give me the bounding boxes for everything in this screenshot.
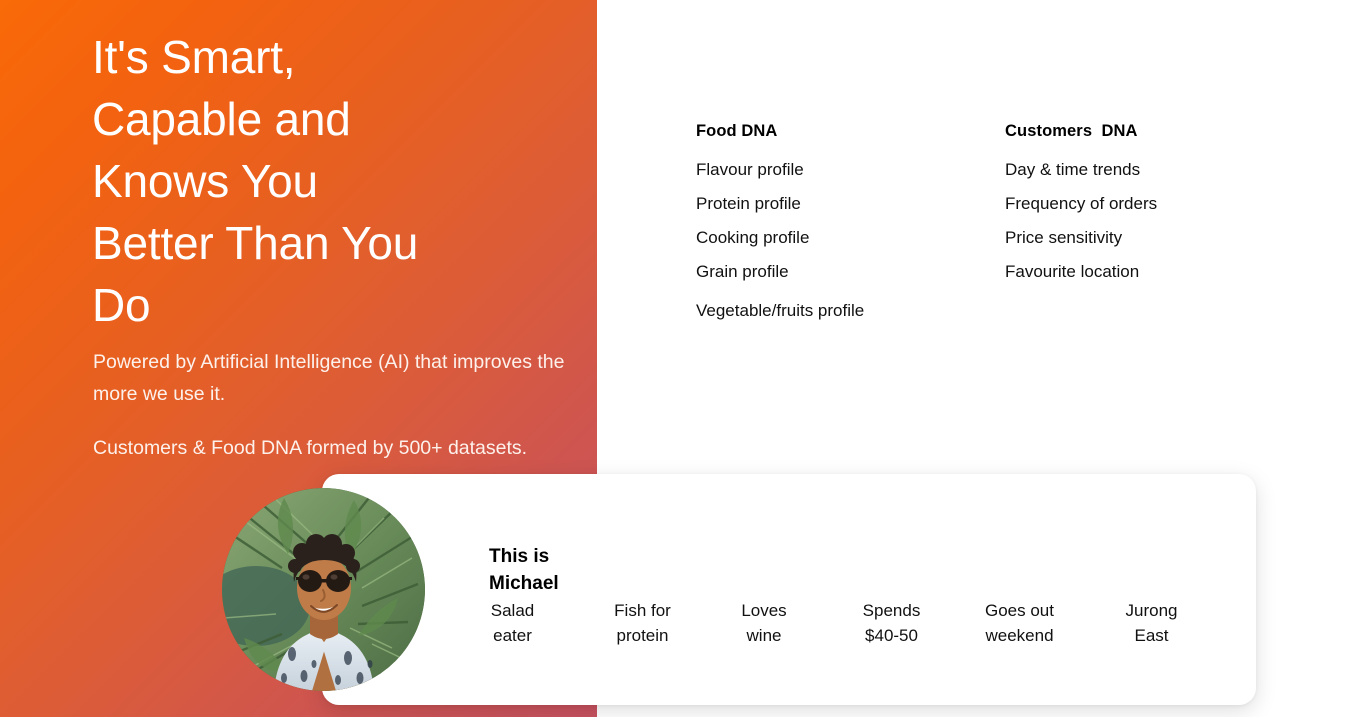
food-dna-item-vegetable-fruits: Vegetable/fruits profile xyxy=(696,294,864,328)
food-dna-item-flavour: Flavour profile xyxy=(696,153,864,187)
food-dna-column: Food DNA Flavour profile Protein profile… xyxy=(696,122,864,328)
profile-trait-goes-out-weekend: Goes out weekend xyxy=(955,598,1084,648)
food-dna-item-protein: Protein profile xyxy=(696,187,864,221)
profile-trait-fish-for-protein: Fish for protein xyxy=(585,598,700,648)
slide-canvas: It's Smart, Capable and Knows You Better… xyxy=(0,0,1363,717)
profile-traits-row: Salad eater Fish for protein Loves wine … xyxy=(440,598,1240,648)
hero-paragraph-datasets: Customers & Food DNA formed by 500+ data… xyxy=(93,432,605,464)
profile-trait-loves-wine: Loves wine xyxy=(700,598,828,648)
customers-dna-column: Customers DNA Day & time trends Frequenc… xyxy=(1005,122,1157,289)
customers-dna-item-price-sensitivity: Price sensitivity xyxy=(1005,221,1157,255)
food-dna-item-grain: Grain profile xyxy=(696,255,864,289)
profile-trait-salad-eater: Salad eater xyxy=(440,598,585,648)
customers-dna-item-favourite-location: Favourite location xyxy=(1005,255,1157,289)
avatar xyxy=(222,488,425,691)
profile-trait-spends: Spends $40-50 xyxy=(828,598,955,648)
customers-dna-heading: Customers DNA xyxy=(1005,122,1157,141)
food-dna-item-cooking: Cooking profile xyxy=(696,221,864,255)
hero-paragraph-powered-by: Powered by Artificial Intelligence (AI) … xyxy=(93,346,605,410)
page-title: It's Smart, Capable and Knows You Better… xyxy=(92,26,572,336)
customers-dna-item-day-time-trends: Day & time trends xyxy=(1005,153,1157,187)
food-dna-heading: Food DNA xyxy=(696,122,864,141)
avatar-photo-icon xyxy=(222,488,425,691)
profile-card-title: This is Michael xyxy=(489,543,619,597)
profile-trait-jurong-east: Jurong East xyxy=(1084,598,1219,648)
profile-card: This is Michael Salad eater Fish for pro… xyxy=(322,474,1256,705)
customers-dna-item-frequency-of-orders: Frequency of orders xyxy=(1005,187,1157,221)
